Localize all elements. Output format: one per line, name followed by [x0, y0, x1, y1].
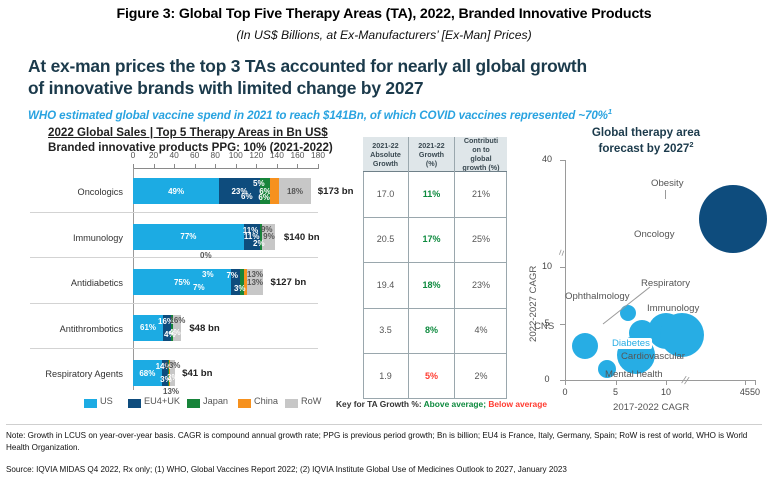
legend-swatch-japan	[187, 399, 200, 408]
legend-swatch-us	[84, 399, 97, 408]
footer-divider	[6, 424, 762, 425]
legend-label-japan: Japan	[203, 396, 228, 406]
growth-key-above-average: Above average;	[424, 399, 486, 409]
legend-label-eu4-uk: EU4+UK	[144, 396, 180, 406]
footer-note: Note: Growth in LCUS on year-over-year b…	[6, 430, 762, 453]
legend-label-china: China	[254, 396, 278, 406]
footer-source: Source: IQVIA MIDAS Q4 2022, Rx only; (1…	[6, 465, 567, 474]
growth-key: Key for TA Growth %: Above average; Belo…	[336, 399, 547, 409]
legend-label-us: US	[100, 396, 113, 406]
growth-key-prefix: Key for TA Growth %:	[336, 399, 422, 409]
legend-swatch-china	[238, 399, 251, 408]
legend-swatch-row	[285, 399, 298, 408]
legend-swatch-eu4-uk	[128, 399, 141, 408]
legend-label-row: RoW	[301, 396, 321, 406]
growth-key-below-average: Below average	[488, 399, 547, 409]
